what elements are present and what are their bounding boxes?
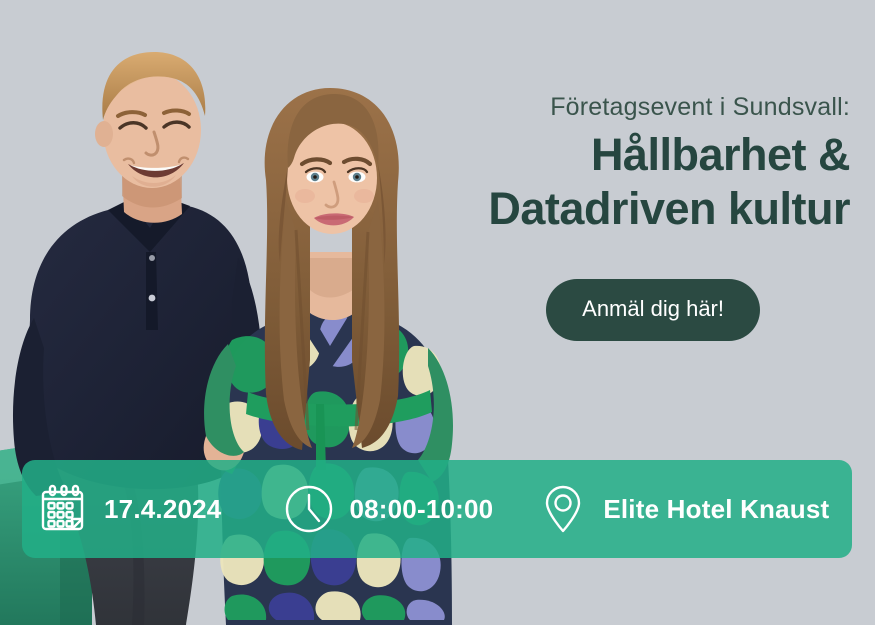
calendar-icon [38, 483, 90, 535]
cta-container: Anmäl dig här! [546, 279, 760, 341]
event-banner: Företagsevent i Sundsvall: Hållbarhet & … [0, 0, 875, 625]
headline-line-1: Hållbarhet & [591, 129, 850, 180]
location-pin-icon [537, 483, 589, 535]
info-item-date: 17.4.2024 [38, 483, 221, 535]
banner-kicker: Företagsevent i Sundsvall: [420, 92, 850, 122]
event-date: 17.4.2024 [104, 494, 221, 525]
event-time: 08:00-10:00 [349, 494, 493, 525]
event-info-bar: 17.4.2024 08:00-10:00 [22, 460, 852, 558]
banner-text-block: Företagsevent i Sundsvall: Hållbarhet & … [420, 92, 850, 236]
clock-icon [283, 483, 335, 535]
page-title: Hållbarhet & Datadriven kultur [420, 128, 850, 236]
info-item-location: Elite Hotel Knaust [537, 483, 829, 535]
info-item-time: 08:00-10:00 [283, 483, 493, 535]
headline-line-2: Datadriven kultur [420, 182, 850, 236]
register-button[interactable]: Anmäl dig här! [546, 279, 760, 341]
event-location: Elite Hotel Knaust [603, 494, 829, 525]
